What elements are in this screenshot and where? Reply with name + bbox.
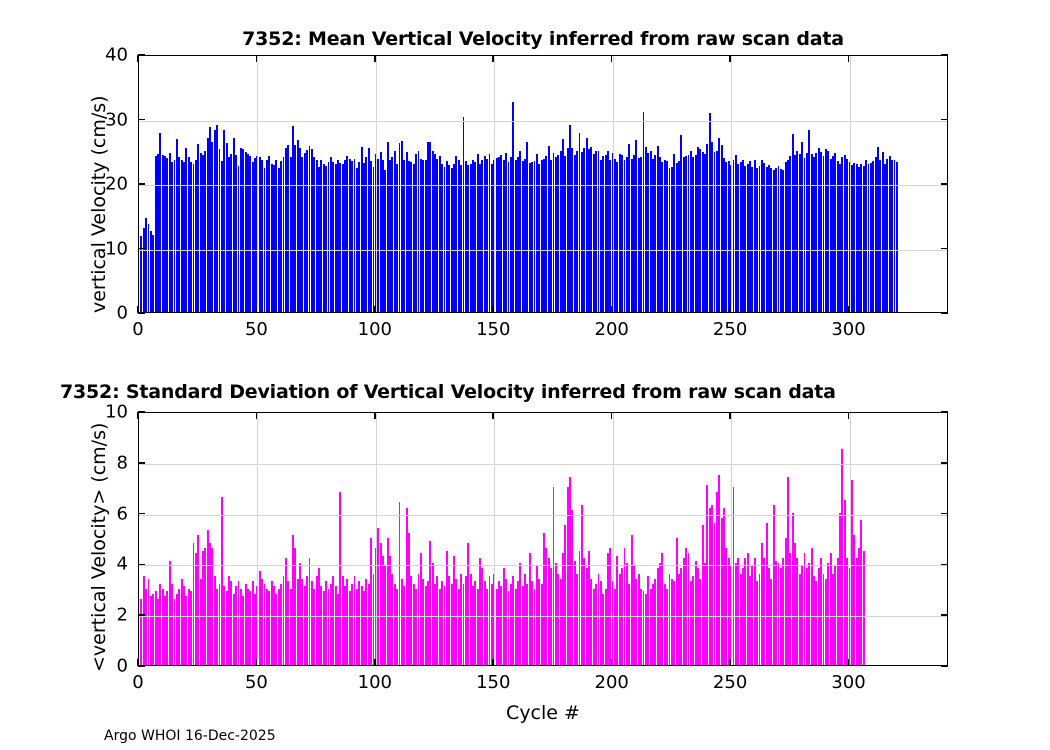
gridline-vertical <box>613 56 614 312</box>
x-tick-label: 0 <box>132 672 143 693</box>
x-tick-mark <box>256 412 258 419</box>
x-tick-mark <box>848 306 850 313</box>
y-tick-mark <box>138 119 145 121</box>
y-tick-label: 10 <box>76 238 128 259</box>
y-tick-mark <box>941 54 948 56</box>
y-tick-label: 40 <box>76 45 128 66</box>
x-tick-mark <box>729 55 731 62</box>
x-tick-mark <box>492 55 494 62</box>
gridline-vertical <box>376 56 377 312</box>
gridline-horizontal <box>139 565 947 566</box>
figure-page: 7352: Mean Vertical Velocity inferred fr… <box>0 0 1050 750</box>
x-tick-mark <box>729 412 731 419</box>
y-tick-mark <box>138 564 145 566</box>
x-tick-mark <box>256 55 258 62</box>
x-axis-label-std: Cycle # <box>138 702 948 724</box>
gridline-vertical <box>494 56 495 312</box>
y-tick-mark <box>138 183 145 185</box>
y-tick-mark <box>941 665 948 667</box>
x-tick-mark <box>848 55 850 62</box>
x-tick-mark <box>137 55 139 62</box>
y-tick-mark <box>941 462 948 464</box>
gridline-vertical <box>257 413 258 665</box>
gridline-vertical <box>494 413 495 665</box>
plot-area-std <box>138 412 948 666</box>
y-tick-mark <box>941 119 948 121</box>
gridline-horizontal <box>139 616 947 617</box>
y-tick-mark <box>941 183 948 185</box>
gridline-horizontal <box>139 515 947 516</box>
x-tick-mark <box>611 659 613 666</box>
gridline-vertical <box>731 56 732 312</box>
gridline-vertical <box>850 56 851 312</box>
y-tick-mark <box>941 312 948 314</box>
x-tick-mark <box>374 412 376 419</box>
y-tick-mark <box>138 312 145 314</box>
y-tick-mark <box>138 54 145 56</box>
x-tick-mark <box>374 659 376 666</box>
x-tick-mark <box>611 55 613 62</box>
x-tick-mark <box>256 306 258 313</box>
bar <box>863 551 865 665</box>
gridline-vertical <box>257 56 258 312</box>
x-tick-label: 50 <box>245 672 268 693</box>
x-tick-mark <box>729 306 731 313</box>
x-tick-label: 150 <box>476 319 510 340</box>
gridline-horizontal <box>139 185 947 186</box>
x-tick-label: 200 <box>594 319 628 340</box>
x-tick-mark <box>374 55 376 62</box>
x-tick-label: 50 <box>245 319 268 340</box>
gridline-vertical <box>613 413 614 665</box>
x-tick-label: 250 <box>713 672 747 693</box>
y-tick-label: 30 <box>76 109 128 130</box>
x-tick-mark <box>611 306 613 313</box>
y-tick-mark <box>941 614 948 616</box>
y-tick-mark <box>941 248 948 250</box>
x-tick-label: 100 <box>358 319 392 340</box>
y-tick-label: 4 <box>76 554 128 575</box>
y-tick-label: 10 <box>76 402 128 423</box>
y-tick-label: 8 <box>76 452 128 473</box>
y-tick-mark <box>941 411 948 413</box>
x-tick-mark <box>729 659 731 666</box>
gridline-horizontal <box>139 250 947 251</box>
x-tick-mark <box>492 412 494 419</box>
gridline-vertical <box>850 413 851 665</box>
y-tick-mark <box>138 248 145 250</box>
y-tick-mark <box>138 411 145 413</box>
y-tick-label: 20 <box>76 174 128 195</box>
y-tick-label: 2 <box>76 605 128 626</box>
plot-area-mean <box>138 55 948 313</box>
y-tick-label: 0 <box>76 303 128 324</box>
chart-title-std: 7352: Standard Deviation of Vertical Vel… <box>60 381 1045 403</box>
x-tick-mark <box>374 306 376 313</box>
bar-series-std <box>139 413 947 665</box>
y-tick-mark <box>941 564 948 566</box>
x-tick-label: 150 <box>476 672 510 693</box>
x-tick-label: 200 <box>594 672 628 693</box>
gridline-vertical <box>376 413 377 665</box>
chart-title-mean: 7352: Mean Vertical Velocity inferred fr… <box>138 28 948 50</box>
gridline-vertical <box>731 413 732 665</box>
x-tick-mark <box>611 412 613 419</box>
y-tick-mark <box>138 665 145 667</box>
x-tick-label: 100 <box>358 672 392 693</box>
gridline-horizontal <box>139 121 947 122</box>
y-tick-mark <box>941 513 948 515</box>
y-tick-label: 6 <box>76 503 128 524</box>
x-tick-mark <box>492 306 494 313</box>
x-tick-mark <box>848 659 850 666</box>
y-tick-mark <box>138 513 145 515</box>
x-tick-label: 300 <box>831 319 865 340</box>
x-tick-label: 250 <box>713 319 747 340</box>
footer-credit: Argo WHOI 16-Dec-2025 <box>104 728 276 744</box>
x-tick-label: 300 <box>831 672 865 693</box>
y-tick-mark <box>138 462 145 464</box>
x-tick-mark <box>256 659 258 666</box>
x-tick-mark <box>137 659 139 666</box>
x-tick-mark <box>137 412 139 419</box>
x-tick-mark <box>492 659 494 666</box>
y-tick-label: 0 <box>76 656 128 677</box>
gridline-horizontal <box>139 464 947 465</box>
y-tick-mark <box>138 614 145 616</box>
bar-series-mean <box>139 56 947 312</box>
x-tick-label: 0 <box>132 319 143 340</box>
x-tick-mark <box>137 306 139 313</box>
x-tick-mark <box>848 412 850 419</box>
